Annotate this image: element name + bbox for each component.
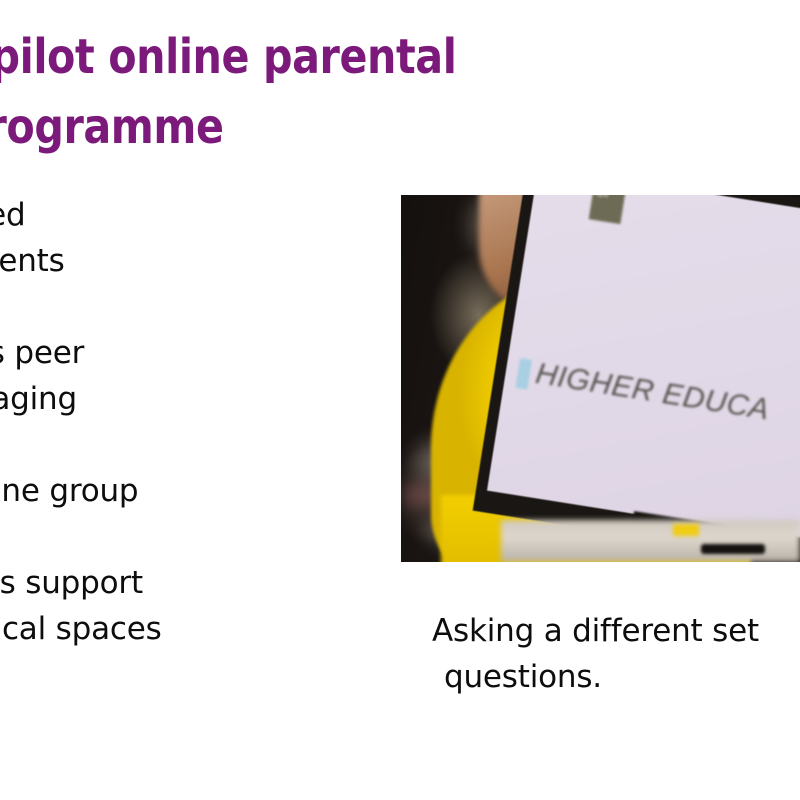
photo-caption: Asking a different set questions. <box>432 608 800 700</box>
body-line-6: ps? <box>0 422 348 468</box>
body-line-8: d regular <box>0 514 348 560</box>
photo-desk <box>501 520 800 562</box>
title-line-1: Selves-pilot online parental <box>0 22 664 92</box>
photo-monitor: Greater Manchester Higher HIGHER EDUCA <box>473 195 800 562</box>
photo-desk-object <box>673 524 699 536</box>
slide-photo: Greater Manchester Higher HIGHER EDUCA <box>401 195 800 562</box>
body-line-1: d sustained <box>0 192 348 238</box>
body-line-11: e? <box>0 652 348 698</box>
title-line-2: ment programme <box>0 92 664 162</box>
body-line-spacer <box>0 284 348 330</box>
photo-screen-accent-bar <box>515 358 532 390</box>
photo-screen-heading: HIGHER EDUCA <box>533 357 771 428</box>
slide-title: Selves-pilot online parental ment progra… <box>0 22 800 162</box>
body-line-4: ence does peer <box>0 330 348 376</box>
photo-monitor-screen: Greater Manchester Higher HIGHER EDUCA <box>487 195 800 540</box>
body-line-10: visit physical spaces <box>0 606 348 652</box>
body-line-9: s with HEIs support <box>0 560 348 606</box>
body-line-5: ke to engaging <box>0 376 348 422</box>
slide-canvas: Selves-pilot online parental ment progra… <box>0 0 800 800</box>
body-line-2: s with parents <box>0 238 348 284</box>
caption-line-2: questions. <box>432 654 800 700</box>
body-text-column: d sustained s with parents ence does pee… <box>0 192 348 698</box>
photo-pen <box>701 544 765 554</box>
body-line-7: ortive online group <box>0 468 348 514</box>
caption-line-1: Asking a different set <box>432 608 800 654</box>
